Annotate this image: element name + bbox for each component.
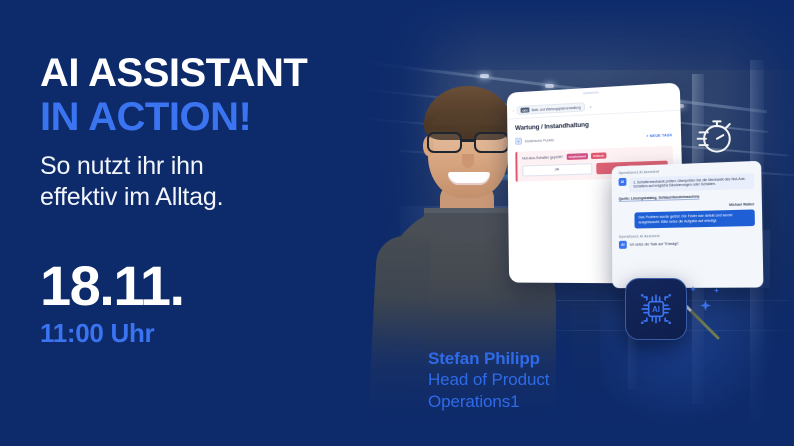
list-icon: ≡ xyxy=(515,138,522,145)
glasses-bridge xyxy=(462,139,474,142)
mockup-toolbar: ≡ Elektrische Punkte + NEUE TASK xyxy=(515,131,672,145)
speaker-nose xyxy=(462,154,474,168)
mockup-page-title: Wartung / Instandhaltung xyxy=(515,117,672,132)
chat-source-link[interactable]: Quelle: Lösungskatalog_Schlauchbeutelmas… xyxy=(619,193,755,201)
new-task-button[interactable]: + NEUE TASK xyxy=(646,133,672,138)
task-title: Not-Aus-Schalter geprüft? xyxy=(522,155,563,161)
task-badge-critical: kritisch xyxy=(591,152,606,158)
tab-chip[interactable]: DEU Blatt- und Wartungsplanverwaltung xyxy=(517,102,585,115)
speaker-role-line-1: Head of Product xyxy=(428,369,549,390)
ai-avatar: AI xyxy=(619,241,627,249)
back-arrow-icon[interactable]: ‹ xyxy=(513,108,514,113)
chat-ai-message-1: AI 1. Schaltermechanik prüfen: Überprüfe… xyxy=(619,173,755,194)
event-date: 18.11. xyxy=(40,258,184,314)
svg-text:AI: AI xyxy=(652,305,660,314)
chat-user-bubble: Das Problem wurde gelöst. Die Feder war … xyxy=(634,209,754,228)
tab-label: Blatt- und Wartungsplanverwaltung xyxy=(532,105,581,112)
speaker-eyebrow-left xyxy=(430,126,456,130)
speaker-name: Stefan Philipp xyxy=(428,348,549,369)
speaker-smile xyxy=(448,172,490,185)
chat-ai-message-2: AI Ich setze die Task auf "Erledigt". xyxy=(619,239,755,249)
speaker-eyebrow-right xyxy=(480,126,506,130)
glasses-lens-right xyxy=(474,132,509,153)
task-card-header: Not-Aus-Schalter geprüft? verplichtend k… xyxy=(522,150,667,161)
glasses-icon xyxy=(424,132,512,154)
device-notch xyxy=(583,91,599,94)
chat-ai-bubble-2: Ich setze die Task auf "Erledigt". xyxy=(630,240,680,246)
filter-label: Elektrische Punkte xyxy=(525,138,554,143)
subheadline-line-1: So nutzt ihr ihn xyxy=(40,151,380,182)
subheadline-line-2: effektiv im Alltag. xyxy=(40,182,380,213)
chevron-down-icon[interactable]: ▾ xyxy=(590,105,592,109)
ai-avatar: AI xyxy=(619,177,627,185)
task-badge-required: verplichtend xyxy=(566,153,588,159)
glasses-lens-left xyxy=(427,132,462,153)
headline-line-1: AI ASSISTANT xyxy=(40,52,380,94)
ai-chat-panel[interactable]: Operations1 AI Assistent AI 1. Schalterm… xyxy=(612,161,764,288)
chat-ai-bubble-1: 1. Schaltermechanik prüfen: Überprüfen S… xyxy=(629,173,754,193)
event-time: 11:00 Uhr xyxy=(40,320,184,346)
tab-badge: DEU xyxy=(521,107,530,112)
answer-yes-button[interactable]: JA xyxy=(522,163,592,176)
webinar-promo-banner: AI ASSISTANT IN ACTION! So nutzt ihr ihn… xyxy=(0,0,794,446)
stopwatch-icon xyxy=(694,114,738,158)
speaker-caption: Stefan Philipp Head of Product Operation… xyxy=(428,348,549,412)
chat-assistant-label-2: Operations1 AI Assistent xyxy=(619,232,755,239)
event-date-block: 18.11. 11:00 Uhr xyxy=(40,258,184,346)
ai-chip-icon: AI xyxy=(625,278,687,340)
speaker-role-line-2: Operations1 xyxy=(428,391,549,412)
headline-block: AI ASSISTANT IN ACTION! So nutzt ihr ihn… xyxy=(40,52,380,213)
headline-line-2: IN ACTION! xyxy=(40,96,380,138)
filter-control[interactable]: ≡ Elektrische Punkte xyxy=(515,136,554,145)
